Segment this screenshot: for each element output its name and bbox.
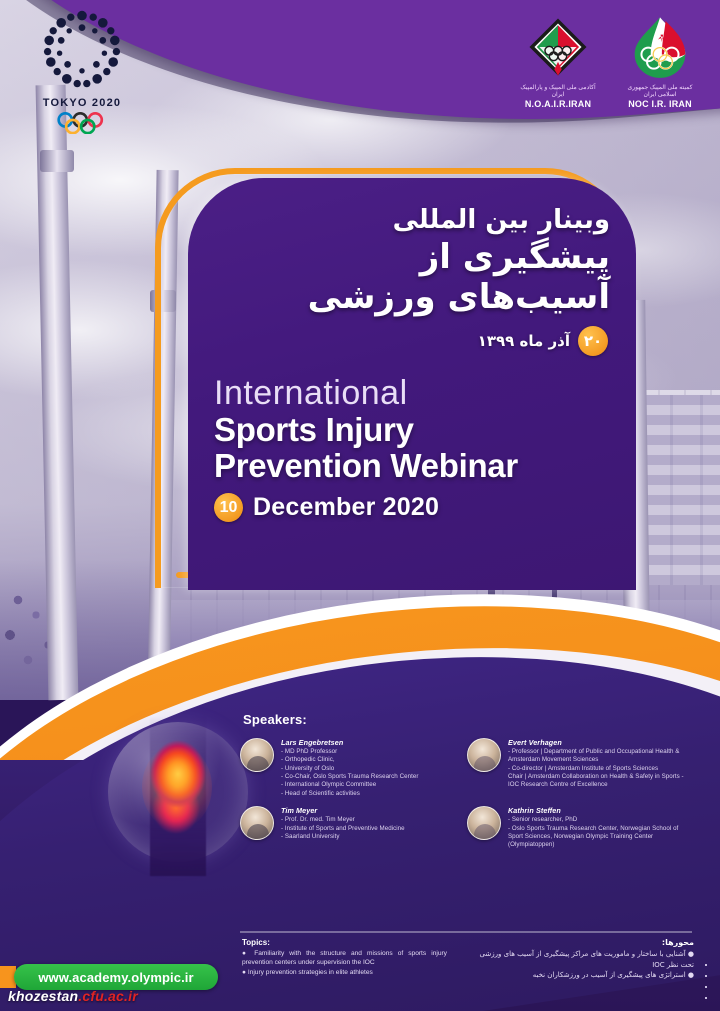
title-card: وبینار بین المللی پیشگیری از آسیب‌های ور… [188, 178, 636, 590]
watermark-suffix: .cfu.ac.ir [78, 988, 138, 1004]
speaker-detail: - Oslo Sports Trauma Research Center, No… [508, 825, 695, 850]
topic-item-fa: ● آشنایی با ساختار و ماموریت های مراکز پ… [476, 949, 694, 970]
english-title-line-3: Prevention Webinar [214, 448, 610, 484]
poster-root: TOKYO 2020 [0, 0, 720, 1011]
noa-iran-farsi-label: آکادمی ملی المپیک و پارالمپیک ایران [516, 85, 600, 98]
tokyo-wordmark: TOKYO 2020 [22, 97, 142, 109]
speaker-card: Kathrin Steffen - Senior researcher, PhD… [467, 806, 695, 849]
speaker-name: Kathrin Steffen [508, 806, 695, 815]
noc-iran-english-label: NOC I.R. IRAN [618, 99, 702, 109]
speaker-detail: - Head of Scientific activities [281, 790, 418, 798]
speaker-photo-evert-verhagen [467, 738, 501, 772]
farsi-title-line-1: وبینار بین المللی [214, 204, 610, 237]
speaker-name: Tim Meyer [281, 806, 405, 815]
iran-olympic-logos: آکادمی ملی المپیک و پارالمپیک ایران N.O.… [516, 16, 702, 109]
knee-glow [142, 744, 212, 830]
speaker-detail: - Senior researcher, PhD [508, 816, 695, 824]
speakers-grid: Lars Engebretsen - MD PhD Professor - Or… [240, 738, 695, 850]
speaker-detail: - Prof. Dr. med. Tim Meyer [281, 816, 405, 824]
pole-collar [40, 150, 74, 172]
speaker-detail: - Orthopedic Clinic, [281, 756, 418, 764]
speaker-detail: - Institute of Sports and Preventive Med… [281, 825, 405, 833]
speaker-name: Lars Engebretsen [281, 738, 418, 747]
speaker-detail: - International Olympic Committee [281, 781, 418, 789]
noc-iran-emblem-icon [626, 16, 694, 78]
farsi-title-line-3: آسیب‌های ورزشی [214, 277, 610, 318]
speaker-detail: - Saarland University [281, 833, 405, 841]
topic-text-fa: آشنایی با ساختار و ماموریت های مراکز پیش… [480, 950, 694, 969]
farsi-date: ۲۰ آذر ماه ۱۳۹۹ [214, 326, 610, 356]
speaker-card: Tim Meyer - Prof. Dr. med. Tim Meyer - I… [240, 806, 452, 849]
speaker-card: Evert Verhagen - Professor | Department … [467, 738, 695, 798]
topics-english: Topics: ● Familiarity with the structure… [242, 938, 447, 979]
tokyo-2020-logo: TOKYO 2020 [22, 10, 142, 139]
speaker-detail: - Co-Chair, Oslo Sports Trauma Research … [281, 773, 418, 781]
topics-farsi: محورها: ● آشنایی با ساختار و ماموریت های… [476, 938, 694, 981]
topic-text: Familiarity with the structure and missi… [242, 950, 447, 966]
olympic-rings-icon [53, 112, 111, 134]
speakers-heading: Speakers: [243, 712, 307, 727]
website-url-banner[interactable]: www.academy.olympic.ir [14, 964, 218, 990]
speaker-detail: Chair | Amsterdam Collaboration on Healt… [508, 773, 695, 790]
topic-item: ● Injury prevention strategies in elite … [242, 968, 447, 977]
farsi-title: وبینار بین المللی پیشگیری از آسیب‌های ور… [214, 204, 610, 318]
farsi-title-line-2: پیشگیری از [214, 237, 610, 278]
speaker-name: Evert Verhagen [508, 738, 695, 747]
farsi-day-badge: ۲۰ [578, 326, 608, 356]
noa-iran-logo: آکادمی ملی المپیک و پارالمپیک ایران N.O.… [516, 16, 600, 109]
speaker-detail: - MD PhD Professor [281, 748, 418, 756]
decorative-dots [702, 960, 710, 1004]
noa-iran-emblem-icon [527, 16, 589, 78]
topics-divider [240, 931, 692, 933]
topic-item-fa: ● استراتژی های پیشگیری از آسیب در ورزشکا… [476, 970, 694, 981]
speaker-card: Lars Engebretsen - MD PhD Professor - Or… [240, 738, 452, 798]
topic-item: ● Familiarity with the structure and mis… [242, 949, 447, 967]
watermark: khozestan.cfu.ac.ir [8, 988, 138, 1004]
noc-iran-farsi-label: کمیته ملی المپیک جمهوری اسلامی ایران [618, 85, 702, 98]
topic-text: Injury prevention strategies in elite at… [248, 969, 373, 976]
speaker-photo-lars-engebretsen [240, 738, 274, 772]
english-day-badge: 10 [214, 493, 243, 522]
topics-english-heading: Topics: [242, 938, 447, 947]
english-date: 10 December 2020 [214, 493, 610, 522]
english-title-line-1: International [214, 376, 610, 412]
speaker-detail: - University of Oslo [281, 765, 418, 773]
speaker-photo-tim-meyer [240, 806, 274, 840]
speaker-detail: - Professor | Department of Public and O… [508, 748, 695, 765]
watermark-prefix: khozestan [8, 988, 78, 1004]
tokyo-2020-emblem-icon [42, 10, 122, 90]
noa-iran-english-label: N.O.A.I.R.IRAN [516, 99, 600, 109]
speaker-photo-kathrin-steffen [467, 806, 501, 840]
website-url-text: www.academy.olympic.ir [38, 970, 193, 985]
english-date-text: December 2020 [253, 493, 439, 522]
farsi-date-text: آذر ماه ۱۳۹۹ [478, 332, 570, 350]
speaker-detail: - Co-director | Amsterdam Institute of S… [508, 765, 695, 773]
english-title-line-2: Sports Injury [214, 412, 610, 448]
topics-farsi-heading: محورها: [476, 938, 694, 947]
noc-iran-logo: کمیته ملی المپیک جمهوری اسلامی ایران NOC… [618, 16, 702, 109]
english-title: International Sports Injury Prevention W… [214, 376, 610, 484]
topic-text-fa: استراتژی های پیشگیری از آسیب در ورزشکارا… [533, 971, 686, 979]
